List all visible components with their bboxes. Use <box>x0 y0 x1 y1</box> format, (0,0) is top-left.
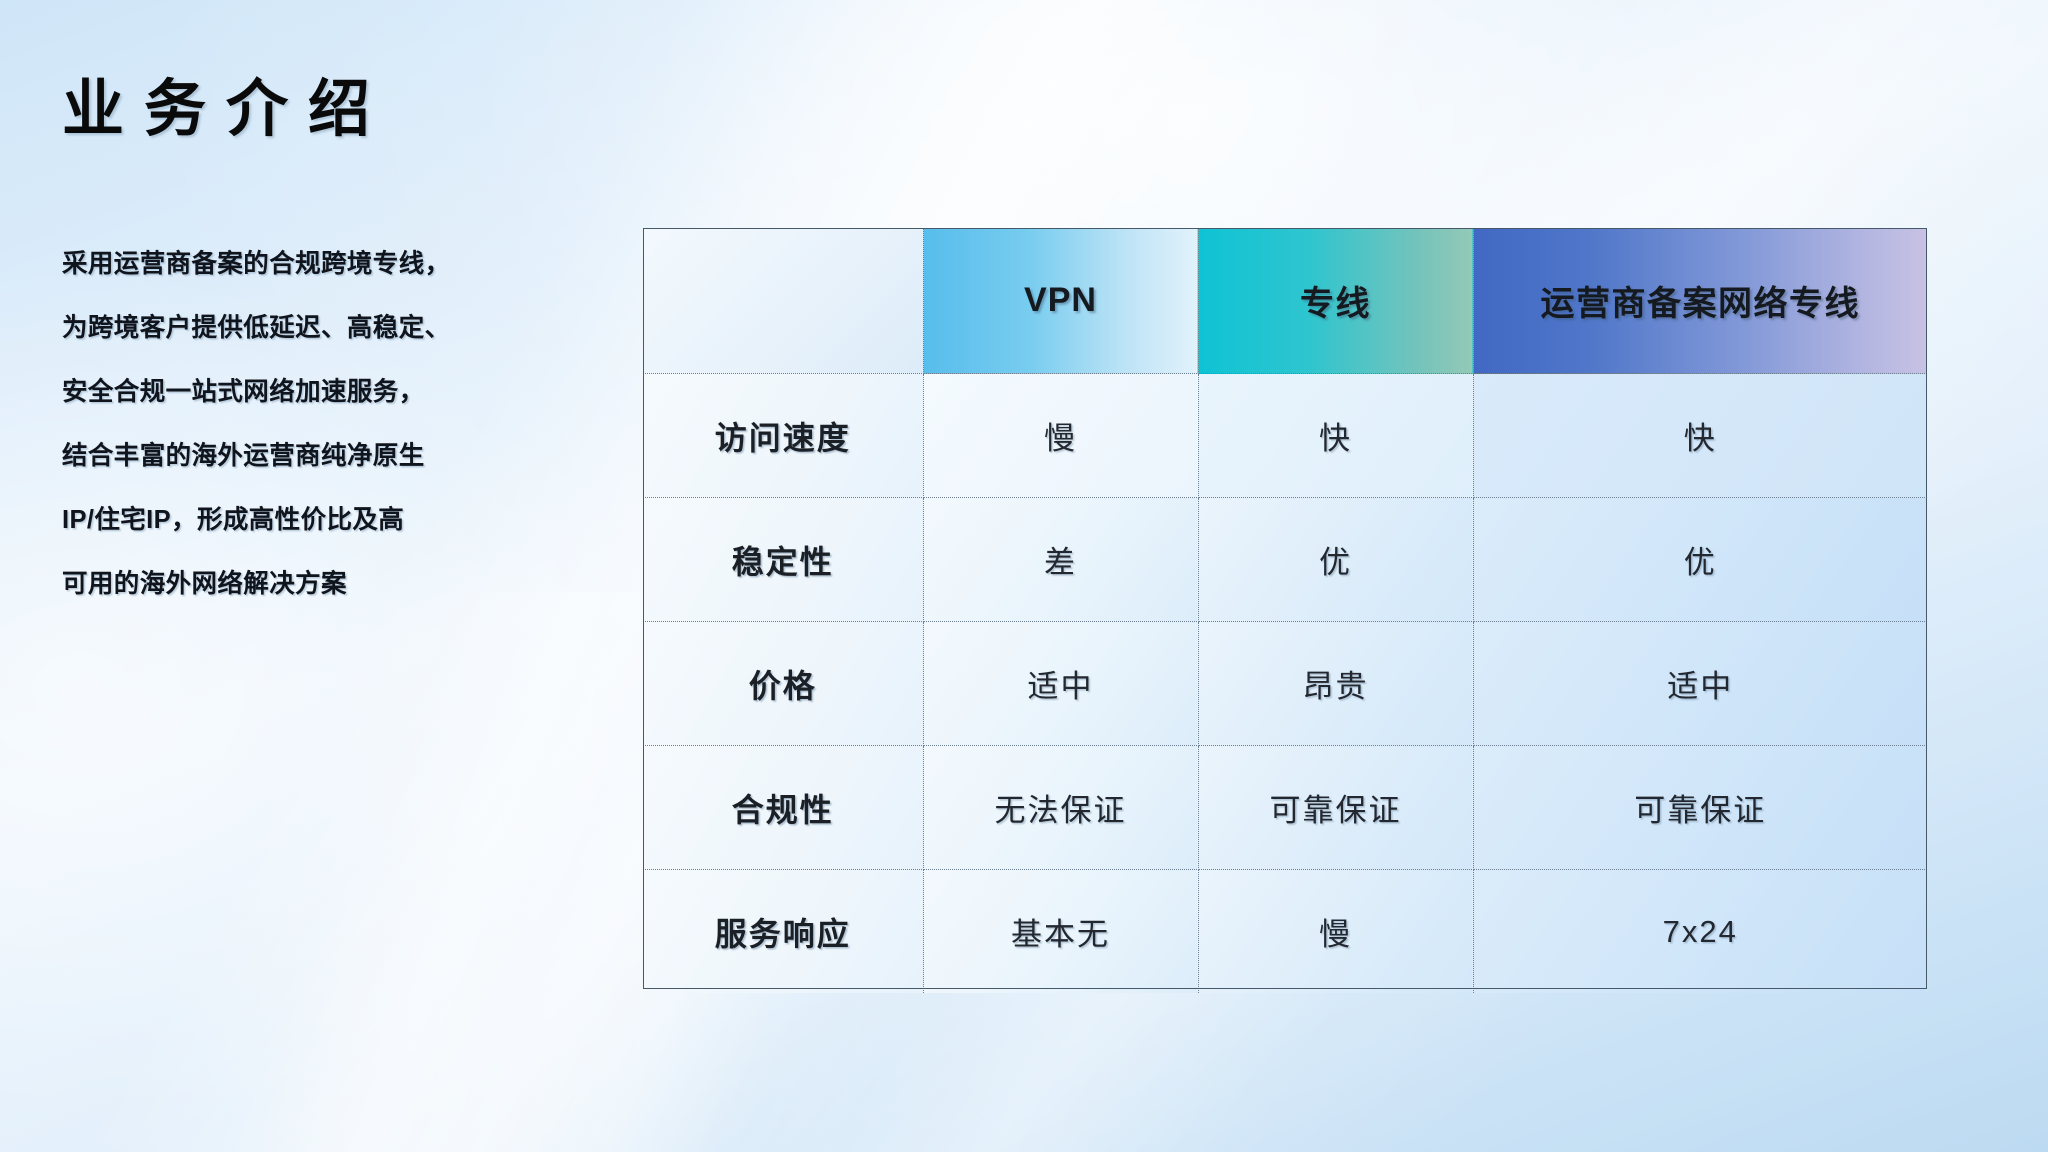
row-value: 优 <box>1473 498 1927 622</box>
row-value: 优 <box>1198 498 1473 622</box>
table-row: 合规性 无法保证 可靠保证 可靠保证 <box>643 746 1927 870</box>
intro-paragraph: 采用运营商备案的合规跨境专线， 为跨境客户提供低延迟、高稳定、 安全合规一站式网… <box>62 232 622 616</box>
intro-line: 可用的海外网络解决方案 <box>62 552 622 616</box>
row-value: 慢 <box>1198 870 1473 994</box>
table-body: 访问速度 慢 快 快 稳定性 差 优 优 价格 适中 昂贵 适中 合规性 无法保… <box>643 374 1927 994</box>
intro-line: 结合丰富的海外运营商纯净原生 <box>62 424 622 488</box>
table-row: 稳定性 差 优 优 <box>643 498 1927 622</box>
table-row: 访问速度 慢 快 快 <box>643 374 1927 498</box>
intro-line: 为跨境客户提供低延迟、高稳定、 <box>62 296 622 360</box>
page-title: 业务介绍 <box>62 58 390 148</box>
row-label: 服务响应 <box>643 870 923 994</box>
intro-line: 采用运营商备案的合规跨境专线， <box>62 232 622 296</box>
table-row: 价格 适中 昂贵 适中 <box>643 622 1927 746</box>
header-cell-blank <box>643 228 923 374</box>
row-value: 昂贵 <box>1198 622 1473 746</box>
intro-line: IP/住宅IP，形成高性价比及高 <box>62 488 622 552</box>
intro-line: 安全合规一站式网络加速服务， <box>62 360 622 424</box>
header-cell-dedicated-line: 专线 <box>1198 228 1473 374</box>
header-label: 专线 <box>1300 285 1371 323</box>
row-label: 价格 <box>643 622 923 746</box>
row-value: 慢 <box>923 374 1198 498</box>
row-label: 稳定性 <box>643 498 923 622</box>
table-header: VPN 专线 运营商备案网络专线 <box>643 228 1927 374</box>
table-header-row: VPN 专线 运营商备案网络专线 <box>643 228 1927 374</box>
row-value: 快 <box>1198 374 1473 498</box>
row-label: 合规性 <box>643 746 923 870</box>
header-label: VPN <box>1024 281 1097 319</box>
row-value: 差 <box>923 498 1198 622</box>
row-value: 7x24 <box>1473 870 1927 994</box>
row-label: 访问速度 <box>643 374 923 498</box>
header-label: 运营商备案网络专线 <box>1541 285 1861 323</box>
row-value: 适中 <box>1473 622 1927 746</box>
row-value: 基本无 <box>923 870 1198 994</box>
row-value: 可靠保证 <box>1198 746 1473 870</box>
table-row: 服务响应 基本无 慢 7x24 <box>643 870 1927 994</box>
row-value: 可靠保证 <box>1473 746 1927 870</box>
slide-canvas: 业务介绍 采用运营商备案的合规跨境专线， 为跨境客户提供低延迟、高稳定、 安全合… <box>0 0 2048 1152</box>
row-value: 适中 <box>923 622 1198 746</box>
header-cell-operator-line: 运营商备案网络专线 <box>1473 228 1927 374</box>
header-cell-vpn: VPN <box>923 228 1198 374</box>
comparison-table: VPN 专线 运营商备案网络专线 访问速度 慢 快 快 稳定性 差 优 <box>643 228 1927 993</box>
row-value: 快 <box>1473 374 1927 498</box>
row-value: 无法保证 <box>923 746 1198 870</box>
